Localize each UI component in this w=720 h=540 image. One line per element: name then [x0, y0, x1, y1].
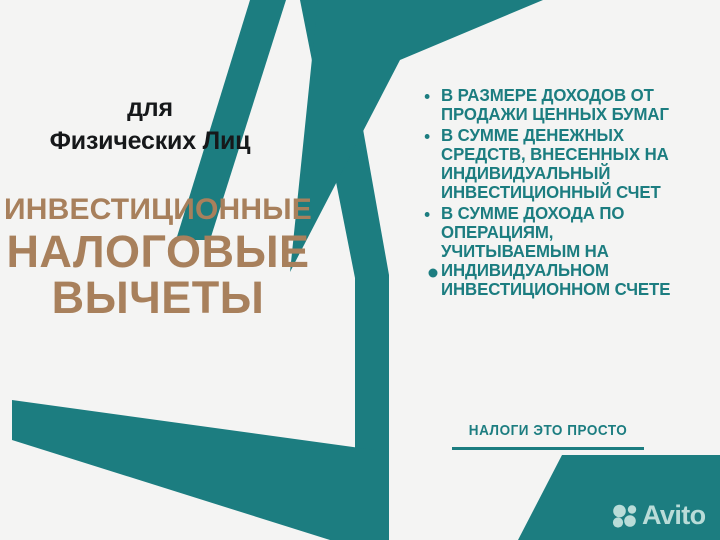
avito-logo-icon	[612, 504, 638, 528]
eyebrow-heading: для Физических Лиц	[0, 92, 300, 158]
tagline-underline	[452, 447, 644, 450]
headline-line-1: ИНВЕСТИЦИОННЫЕ	[2, 196, 314, 225]
tagline-block: НАЛОГИ ЭТО ПРОСТО	[418, 422, 678, 450]
list-item: В СУММЕ ДЕНЕЖНЫХ СРЕДСТВ, ВНЕСЕННЫХ НА И…	[418, 126, 696, 202]
poster-canvas: для Физических Лиц ИНВЕСТИЦИОННЫЕ НАЛОГО…	[0, 0, 720, 540]
avito-watermark: Avito	[612, 502, 706, 529]
page-title: ИНВЕСТИЦИОННЫЕ НАЛОГОВЫЕ ВЫЧЕТЫ	[2, 196, 314, 319]
headline-line-2: НАЛОГОВЫЕ	[2, 230, 314, 273]
deduction-types-list: В РАЗМЕРЕ ДОХОДОВ ОТ ПРОДАЖИ ЦЕННЫХ БУМА…	[418, 86, 708, 299]
eyebrow-line-1: для	[0, 92, 300, 125]
headline-line-3: ВЫЧЕТЫ	[2, 276, 314, 319]
eyebrow-line-2: Физических Лиц	[0, 125, 300, 158]
list-item: В СУММЕ ДОХОДА ПО ОПЕРАЦИЯМ, УЧИТЫВАЕМЫМ…	[418, 204, 696, 299]
list-item: В РАЗМЕРЕ ДОХОДОВ ОТ ПРОДАЖИ ЦЕННЫХ БУМА…	[418, 86, 696, 124]
left-content-column: для Физических Лиц ИНВЕСТИЦИОННЫЕ НАЛОГО…	[0, 0, 330, 540]
avito-wordmark: Avito	[642, 502, 706, 529]
right-content-column: В РАЗМЕРЕ ДОХОДОВ ОТ ПРОДАЖИ ЦЕННЫХ БУМА…	[418, 86, 708, 301]
tagline-text: НАЛОГИ ЭТО ПРОСТО	[469, 422, 628, 439]
